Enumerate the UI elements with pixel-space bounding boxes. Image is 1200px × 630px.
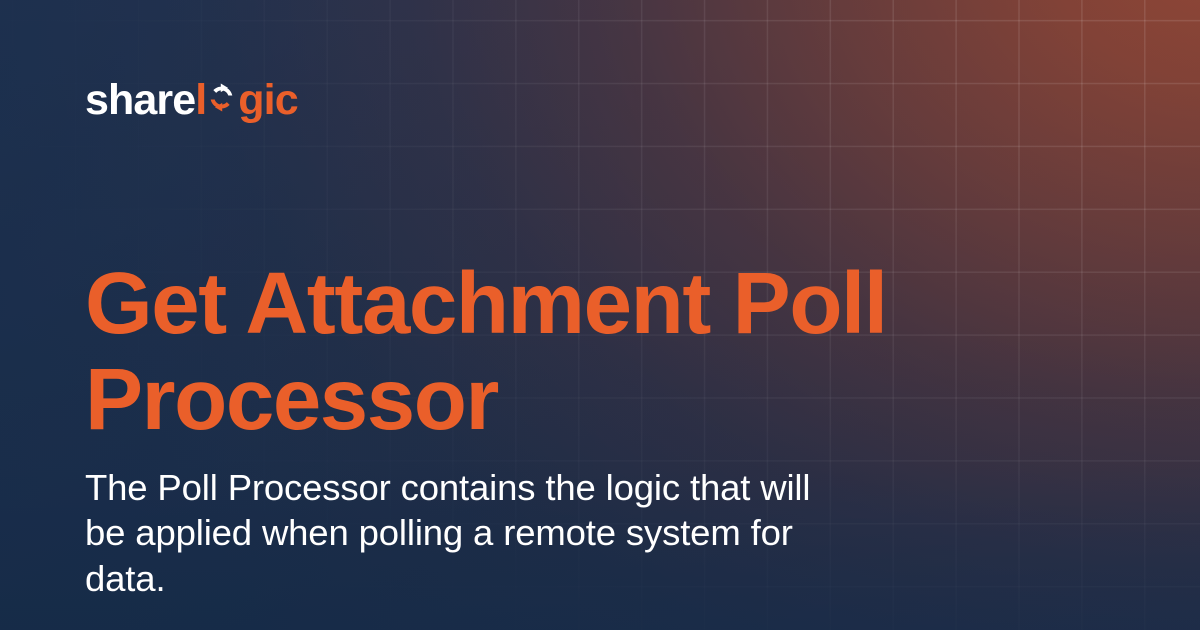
sync-arrows-icon [206,82,237,113]
logo-text-share: share [85,78,195,122]
share-card: share l gic Get Attachment Poll Processo… [0,0,1200,630]
logo-text-gic: gic [238,78,297,122]
sharelogic-logo[interactable]: share l gic [85,78,298,122]
page-title: Get Attachment Poll Processor [85,256,1085,448]
card-content: share l gic Get Attachment Poll Processo… [0,0,1200,630]
logo-text-l: l [195,78,206,122]
page-subtitle: The Poll Processor contains the logic th… [85,465,860,602]
